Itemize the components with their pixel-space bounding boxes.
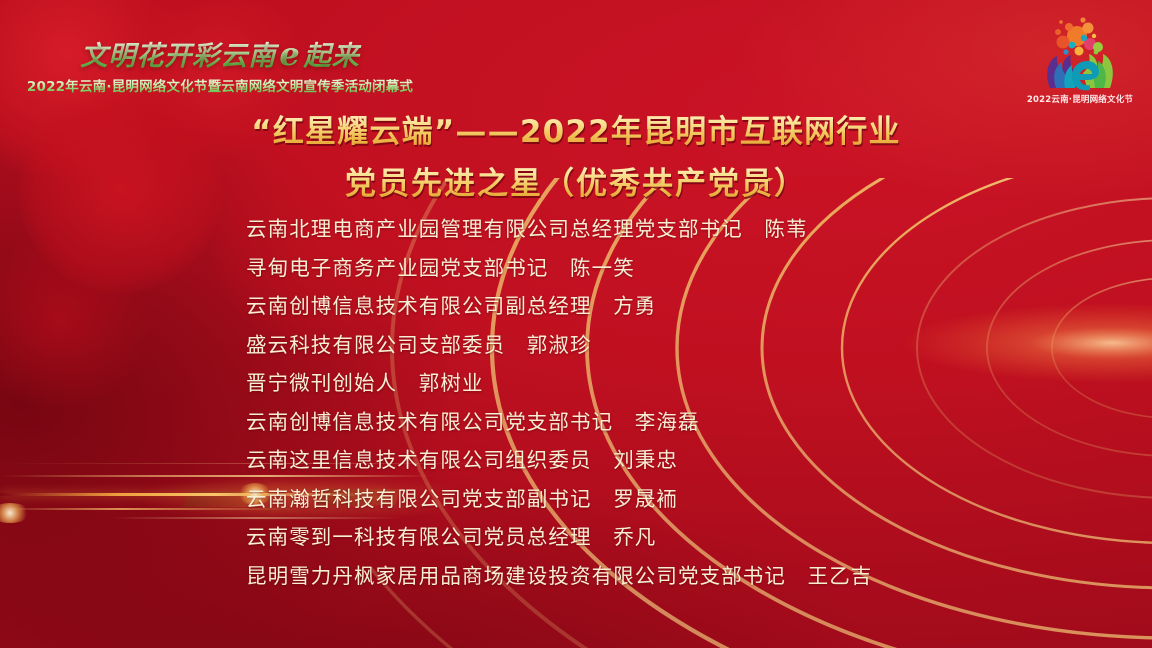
- list-item: 云南这里信息技术有限公司组织委员 刘秉忠: [0, 441, 1152, 480]
- title-line-1: “红星耀云端”——2022年昆明市互联网行业: [0, 106, 1152, 158]
- festival-logo-caption: 2022云南·昆明网络文化节: [1022, 93, 1138, 105]
- list-item: 云南创博信息技术有限公司副总经理 方勇: [0, 287, 1152, 326]
- list-item: 晋宁微刊创始人 郭树业: [0, 364, 1152, 403]
- list-item: 昆明雪力丹枫家居用品商场建设投资有限公司党支部书记 王乙吉: [0, 557, 1152, 596]
- event-logo: 文明花开彩云南e起来 2022年云南·昆明网络文化节暨云南网络文明宣传季活动闭幕…: [20, 38, 420, 95]
- event-logo-main-prefix: 文明花开彩云南: [80, 41, 276, 72]
- presentation-slide: 文明花开彩云南e起来 2022年云南·昆明网络文化节暨云南网络文明宣传季活动闭幕…: [0, 0, 1152, 648]
- festival-logo: 2022云南·昆明网络文化节: [1022, 14, 1138, 105]
- honoree-list: 云南北理电商产业园管理有限公司总经理党支部书记 陈苇 寻甸电子商务产业园党支部书…: [0, 210, 1152, 595]
- slide-title: “红星耀云端”——2022年昆明市互联网行业 党员先进之星（优秀共产党员）: [0, 106, 1152, 210]
- list-item: 云南创博信息技术有限公司党支部书记 李海磊: [0, 403, 1152, 442]
- list-item: 寻甸电子商务产业园党支部书记 陈一笑: [0, 249, 1152, 288]
- festival-emblem-icon: [1032, 14, 1128, 92]
- title-line-2: 党员先进之星（优秀共产党员）: [0, 158, 1152, 210]
- list-item: 盛云科技有限公司支部委员 郭淑珍: [0, 326, 1152, 365]
- e-letter-icon: e: [276, 35, 303, 73]
- event-logo-subtitle: 2022年云南·昆明网络文化节暨云南网络文明宣传季活动闭幕式: [20, 75, 420, 95]
- event-logo-main-title: 文明花开彩云南e起来: [20, 38, 420, 72]
- list-item: 云南零到一科技有限公司党员总经理 乔凡: [0, 518, 1152, 557]
- list-item: 云南瀚哲科技有限公司党支部副书记 罗晟袻: [0, 480, 1152, 519]
- event-logo-main-suffix: 起来: [304, 41, 360, 72]
- list-item: 云南北理电商产业园管理有限公司总经理党支部书记 陈苇: [0, 210, 1152, 249]
